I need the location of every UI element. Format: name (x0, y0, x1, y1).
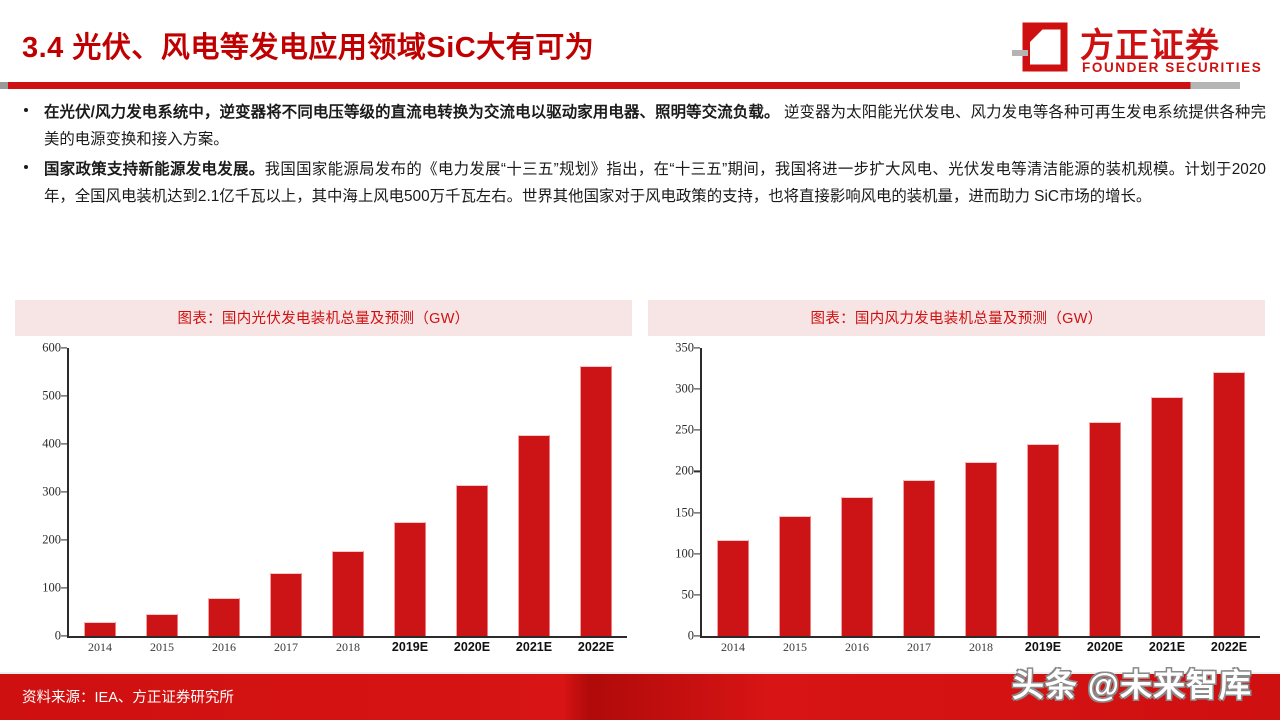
y-tick-mark (694, 430, 700, 431)
bar[interactable] (1213, 372, 1245, 636)
y-tick-label: 400 (15, 437, 61, 452)
bar-slot (565, 348, 627, 636)
bar-slot (503, 348, 565, 636)
x-tick-label: 2021E (1136, 640, 1198, 655)
y-tick-mark (61, 347, 67, 348)
list-item: 国家政策支持新能源发电发展。我国国家能源局发布的《电力发展“十三五”规划》指出，… (18, 157, 1266, 210)
y-tick-mark (694, 471, 700, 472)
bullet-bold-1: 在光伏/风力发电系统中，逆变器将不同电压等级的直流电转换为交流电以驱动家用电器、… (44, 104, 780, 121)
bar[interactable] (717, 540, 749, 636)
bar-slot (193, 348, 255, 636)
x-tick-label: 2022E (565, 640, 627, 655)
x-tick-label: 2018 (317, 640, 379, 655)
y-tick-mark (61, 635, 67, 636)
page-title: 3.4 光伏、风电等发电应用领域SiC大有可为 (22, 24, 594, 66)
y-tick-mark (694, 553, 700, 554)
y-tick-label: 100 (648, 546, 694, 561)
source-note: 资料来源：IEA、方正证券研究所 (22, 686, 234, 707)
x-tick-label: 2014 (69, 640, 131, 655)
bar[interactable] (965, 462, 997, 636)
x-tick-label: 2017 (888, 640, 950, 655)
bar-slot (441, 348, 503, 636)
bar[interactable] (841, 497, 873, 636)
x-tick-label: 2020E (441, 640, 503, 655)
bar[interactable] (518, 435, 550, 636)
y-tick-label: 500 (15, 389, 61, 404)
y-tick-mark (61, 587, 67, 588)
title-divider (0, 82, 1240, 89)
y-tick-label: 200 (648, 464, 694, 479)
bar-slot (131, 348, 193, 636)
bar[interactable] (146, 614, 178, 636)
y-tick-label: 0 (648, 629, 694, 644)
bar-slot (1012, 348, 1074, 636)
bullet-list: 在光伏/风力发电系统中，逆变器将不同电压等级的直流电转换为交流电以驱动家用电器、… (18, 100, 1266, 214)
x-axis-line (67, 636, 627, 638)
chart-caption-solar: 图表：国内光伏发电装机总量及预测（GW） (15, 300, 632, 336)
bar[interactable] (779, 516, 811, 636)
y-tick-label: 0 (15, 629, 61, 644)
bullet-bold-2: 国家政策支持新能源发电发展。 (44, 161, 265, 178)
bar-slot (888, 348, 950, 636)
bar[interactable] (903, 480, 935, 636)
y-tick-mark (61, 443, 67, 444)
x-tick-label: 2014 (702, 640, 764, 655)
bar-series (702, 348, 1260, 636)
chart-panel-solar: 图表：国内光伏发电装机总量及预测（GW） 0100200300400500600… (15, 300, 632, 698)
y-tick-mark (694, 512, 700, 513)
bar[interactable] (84, 622, 116, 636)
bullet-dot-icon (24, 165, 28, 169)
bar[interactable] (270, 573, 302, 636)
x-tick-label: 2020E (1074, 640, 1136, 655)
bar-series (69, 348, 627, 636)
y-tick-mark (61, 395, 67, 396)
brand-logo: 方正证券 FOUNDER SECURITIES (1012, 18, 1262, 80)
bar[interactable] (580, 366, 612, 636)
bar[interactable] (1151, 397, 1183, 636)
bar[interactable] (332, 551, 364, 636)
bar[interactable] (208, 598, 240, 636)
x-tick-label: 2018 (950, 640, 1012, 655)
bar-slot (764, 348, 826, 636)
bar-slot (255, 348, 317, 636)
y-tick-mark (694, 347, 700, 348)
x-tick-label: 2015 (764, 640, 826, 655)
bar-slot (69, 348, 131, 636)
bar-slot (702, 348, 764, 636)
y-tick-label: 50 (648, 587, 694, 602)
y-tick-label: 200 (15, 533, 61, 548)
footer-bar: 资料来源：IEA、方正证券研究所 (0, 674, 1280, 720)
bar[interactable] (456, 485, 488, 636)
chart-panel-wind: 图表：国内风力发电装机总量及预测（GW） 0501001502002503003… (648, 300, 1265, 698)
bar[interactable] (1089, 422, 1121, 636)
bar-slot (1074, 348, 1136, 636)
x-tick-label: 2019E (379, 640, 441, 655)
list-item: 在光伏/风力发电系统中，逆变器将不同电压等级的直流电转换为交流电以驱动家用电器、… (18, 100, 1266, 153)
x-axis-labels: 201420152016201720182019E2020E2021E2022E (702, 640, 1260, 655)
x-tick-label: 2016 (826, 640, 888, 655)
y-tick-mark (694, 594, 700, 595)
x-tick-label: 2019E (1012, 640, 1074, 655)
chart-caption-wind: 图表：国内风力发电装机总量及预测（GW） (648, 300, 1265, 336)
x-tick-label: 2015 (131, 640, 193, 655)
founder-square-logo-icon (1012, 20, 1074, 74)
bar-slot (379, 348, 441, 636)
bar[interactable] (394, 522, 426, 636)
bar-slot (826, 348, 888, 636)
x-tick-label: 2021E (503, 640, 565, 655)
chart-plot-solar: 0100200300400500600 20142015201620172018… (15, 348, 632, 698)
y-tick-mark (61, 539, 67, 540)
y-tick-label: 600 (15, 341, 61, 356)
bar-slot (1136, 348, 1198, 636)
x-tick-label: 2017 (255, 640, 317, 655)
y-tick-mark (694, 389, 700, 390)
y-tick-label: 150 (648, 505, 694, 520)
y-tick-label: 350 (648, 341, 694, 356)
bullet-dot-icon (24, 108, 28, 112)
y-tick-label: 250 (648, 423, 694, 438)
x-tick-label: 2016 (193, 640, 255, 655)
bar-slot (950, 348, 1012, 636)
bar-slot (317, 348, 379, 636)
slide-page: 3.4 光伏、风电等发电应用领域SiC大有可为 方正证券 FOUNDER SEC… (0, 0, 1280, 720)
y-tick-label: 100 (15, 581, 61, 596)
y-tick-mark (694, 635, 700, 636)
logo-name-en: FOUNDER SECURITIES (1082, 60, 1262, 75)
y-tick-label: 300 (15, 485, 61, 500)
x-tick-label: 2022E (1198, 640, 1260, 655)
bar[interactable] (1027, 444, 1059, 636)
bullet-text-1: 在光伏/风力发电系统中，逆变器将不同电压等级的直流电转换为交流电以驱动家用电器、… (44, 100, 1266, 153)
bar-slot (1198, 348, 1260, 636)
chart-plot-wind: 050100150200250300350 201420152016201720… (648, 348, 1265, 698)
bullet-text-2: 国家政策支持新能源发电发展。我国国家能源局发布的《电力发展“十三五”规划》指出，… (44, 157, 1266, 210)
x-axis-labels: 201420152016201720182019E2020E2021E2022E (69, 640, 627, 655)
y-tick-mark (61, 491, 67, 492)
y-tick-label: 300 (648, 382, 694, 397)
x-axis-line (700, 636, 1260, 638)
